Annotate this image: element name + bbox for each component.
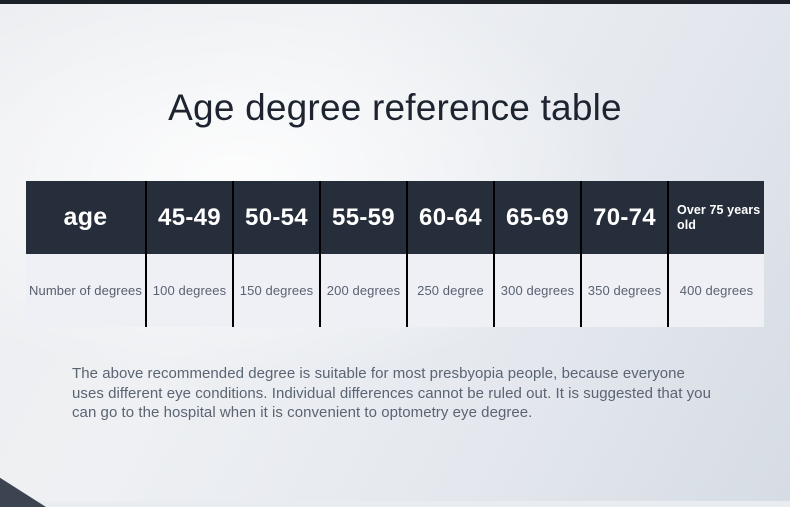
header-cell-over-75: Over 75 years old	[668, 181, 764, 254]
header-cell-70-74: 70-74	[581, 181, 668, 254]
cell-degrees-70-74: 350 degrees	[581, 254, 668, 327]
header-cell-45-49: 45-49	[146, 181, 233, 254]
header-cell-50-54: 50-54	[233, 181, 320, 254]
disclaimer-note: The above recommended degree is suitable…	[72, 364, 712, 423]
table-row: Number of degrees 100 degrees 150 degree…	[26, 254, 764, 327]
age-degree-table-container: age 45-49 50-54 55-59 60-64 65-69 70-74 …	[26, 181, 757, 327]
header-cell-60-64: 60-64	[407, 181, 494, 254]
table-header-row: age 45-49 50-54 55-59 60-64 65-69 70-74 …	[26, 181, 764, 254]
header-cell-65-69: 65-69	[494, 181, 581, 254]
cell-degrees-45-49: 100 degrees	[146, 254, 233, 327]
header-cell-age: age	[26, 181, 146, 254]
page-title: Age degree reference table	[0, 84, 790, 132]
cell-degrees-65-69: 300 degrees	[494, 254, 581, 327]
row-label-number-of-degrees: Number of degrees	[26, 254, 146, 327]
header-cell-55-59: 55-59	[320, 181, 407, 254]
cell-degrees-55-59: 200 degrees	[320, 254, 407, 327]
table-header: age 45-49 50-54 55-59 60-64 65-69 70-74 …	[26, 181, 764, 254]
cell-degrees-over-75: 400 degrees	[668, 254, 764, 327]
age-degree-table: age 45-49 50-54 55-59 60-64 65-69 70-74 …	[26, 181, 764, 327]
cell-degrees-60-64: 250 degree	[407, 254, 494, 327]
table-body: Number of degrees 100 degrees 150 degree…	[26, 254, 764, 327]
top-strip	[0, 0, 790, 4]
cell-degrees-50-54: 150 degrees	[233, 254, 320, 327]
